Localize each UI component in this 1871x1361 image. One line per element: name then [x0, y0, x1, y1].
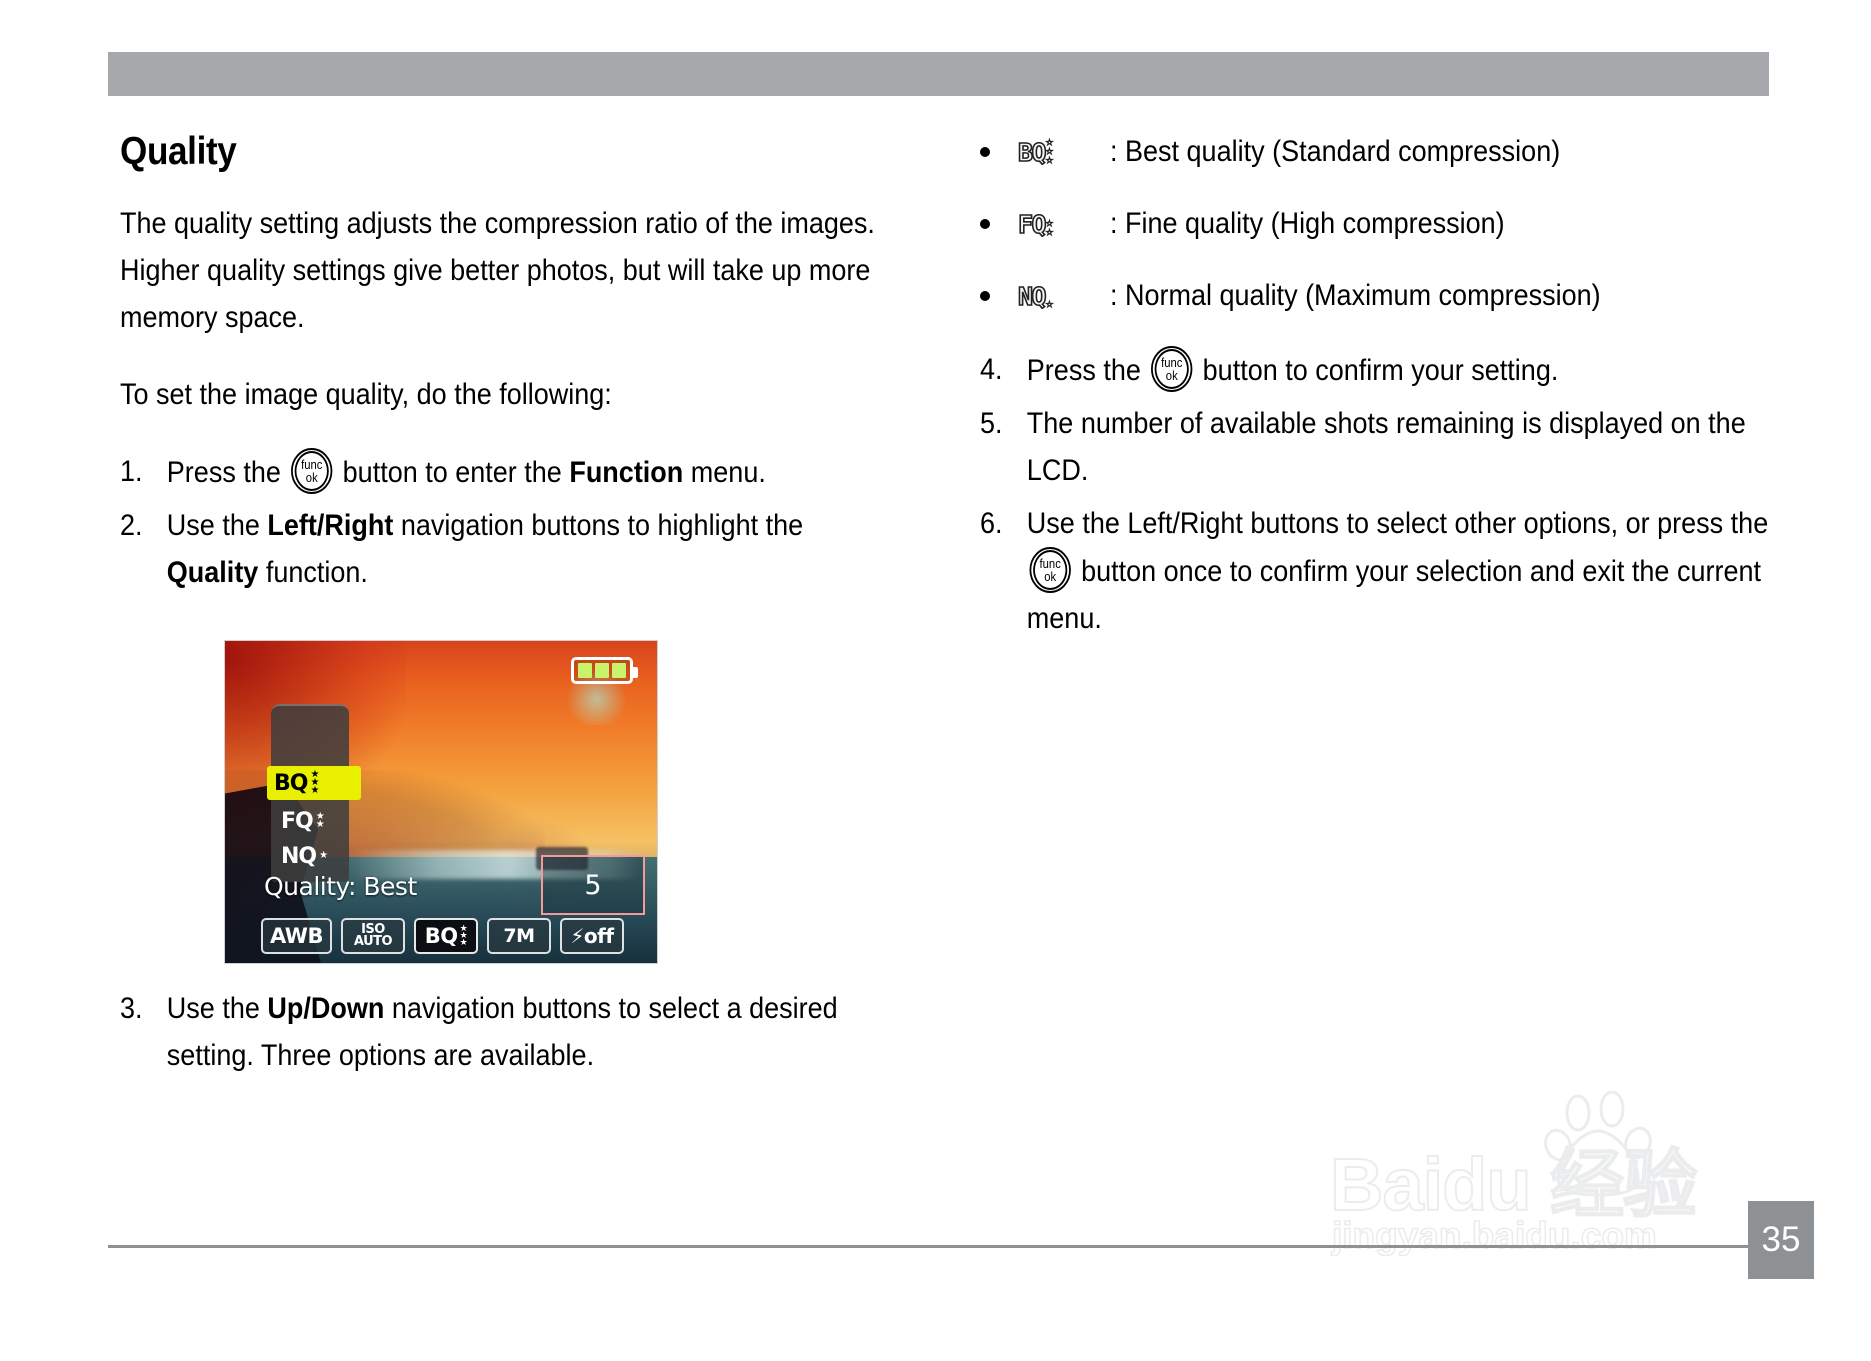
- step-number: 6.: [980, 500, 1027, 642]
- lcd-icon-tray: AWB ISO AUTO BQ★★★ 7M ⚡off: [261, 915, 651, 957]
- right-step-list: 4. Press the funcok button to confirm yo…: [980, 346, 1780, 642]
- quality-option-nq[interactable]: NQ ★: [274, 839, 346, 873]
- left-column-after-figure: 3. Use the Up/Down navigation buttons to…: [120, 985, 890, 1085]
- step-text: Press the funcok button to confirm your …: [1027, 346, 1779, 394]
- fq-icon-label: FQ: [1018, 210, 1045, 239]
- iso-bottom: AUTO: [354, 934, 392, 949]
- func-ok-icon: funcok: [1030, 547, 1071, 593]
- func-label: func: [1030, 558, 1071, 571]
- watermark-title: Baidu 经验: [1330, 1125, 1696, 1232]
- stars-icon: ★★★: [310, 771, 319, 795]
- step-number: 3.: [120, 985, 167, 1079]
- list-item: BQ★★★ : Best quality (Standard compressi…: [980, 130, 1780, 174]
- image-size-icon[interactable]: 7M: [487, 918, 551, 954]
- stars-icon: ★: [319, 852, 328, 860]
- battery-icon: [571, 657, 633, 684]
- shots-remaining-box: 5: [541, 855, 645, 915]
- quality-icon[interactable]: BQ★★★: [414, 918, 478, 954]
- left-step-list: 1. Press the funcok button to enter the …: [120, 448, 890, 596]
- stars-icon: ★★: [316, 813, 325, 829]
- quality-option-fq[interactable]: FQ ★★: [274, 804, 346, 838]
- right-column: BQ★★★ : Best quality (Standard compressi…: [980, 130, 1780, 648]
- flash-icon[interactable]: ⚡off: [560, 918, 624, 954]
- func-label: func: [291, 459, 332, 472]
- func-ok-icon: funcok: [1151, 346, 1192, 392]
- iso-icon[interactable]: ISO AUTO: [341, 918, 405, 954]
- bullet-dot: [980, 147, 990, 157]
- quality-option-label: BQ: [274, 771, 307, 796]
- intro-paragraph: The quality setting adjusts the compress…: [120, 200, 889, 341]
- iso-labels: ISO AUTO: [354, 924, 392, 948]
- step-text: Use the Left/Right navigation buttons to…: [167, 502, 889, 596]
- quality-menu-overlay[interactable]: BQ ★★★ FQ ★★ NQ ★: [271, 704, 349, 882]
- instructions-lead: To set the image quality, do the followi…: [120, 371, 889, 418]
- func-label: func: [1151, 357, 1192, 370]
- bullet-text: : Normal quality (Maximum compression): [1110, 274, 1713, 318]
- page-number: 35: [1748, 1201, 1814, 1279]
- step-text: Press the funcok button to enter the Fun…: [167, 448, 889, 496]
- list-item: 3. Use the Up/Down navigation buttons to…: [120, 985, 889, 1079]
- list-item: 4. Press the funcok button to confirm yo…: [980, 346, 1779, 394]
- quality-option-label: FQ: [281, 809, 313, 834]
- list-item: FQ★★ : Fine quality (High compression): [980, 202, 1780, 246]
- page-title: Quality: [120, 130, 813, 174]
- nq-quality-icon: NQ★: [1018, 274, 1110, 318]
- list-item: NQ★ : Normal quality (Maximum compressio…: [980, 274, 1780, 318]
- step-text: Use the Up/Down navigation buttons to se…: [167, 985, 889, 1079]
- fq-quality-icon: FQ★★: [1018, 202, 1110, 246]
- step-number: 2.: [120, 502, 167, 596]
- step-number: 1.: [120, 448, 167, 496]
- stars-icon: ★★★: [1046, 137, 1051, 164]
- list-item: 2. Use the Left/Right navigation buttons…: [120, 502, 889, 596]
- baidu-watermark: Baidu 经验 jingyan.baidu.com: [1330, 1095, 1790, 1270]
- left-column: Quality The quality setting adjusts the …: [120, 130, 890, 602]
- quality-icon-label: BQ: [425, 924, 458, 948]
- stars-icon: ★★: [1046, 218, 1051, 236]
- manual-page: Quality The quality setting adjusts the …: [0, 0, 1871, 1361]
- step-number: 4.: [980, 346, 1027, 394]
- quality-option-label: NQ: [281, 844, 316, 869]
- ok-label: ok: [1151, 370, 1192, 383]
- ok-label: ok: [1030, 571, 1071, 584]
- step-number: 5.: [980, 400, 1027, 494]
- step-text: Use the Left/Right buttons to select oth…: [1027, 500, 1779, 642]
- bullet-dot: [980, 291, 990, 301]
- flash-glyph: ⚡: [570, 924, 584, 948]
- flash-label: off: [584, 924, 614, 948]
- camera-lcd-screenshot: BQ ★★★ FQ ★★ NQ ★ Quality: Best 5 AWB IS…: [225, 641, 657, 963]
- footer-divider: [108, 1245, 1769, 1248]
- list-item: 6. Use the Left/Right buttons to select …: [980, 500, 1779, 642]
- list-item: 1. Press the funcok button to enter the …: [120, 448, 889, 496]
- lcd-status-text: Quality: Best: [264, 872, 417, 901]
- stars-icon: ★: [1046, 299, 1051, 308]
- stars-icon: ★★★: [460, 926, 468, 947]
- header-band: [108, 52, 1769, 96]
- bq-quality-icon: BQ★★★: [1018, 130, 1110, 174]
- list-item: 5. The number of available shots remaini…: [980, 400, 1779, 494]
- func-ok-icon: funcok: [291, 448, 332, 494]
- baidu-paw-icon: [1542, 1091, 1662, 1201]
- step-text: The number of available shots remaining …: [1027, 400, 1779, 494]
- bullet-text: : Fine quality (High compression): [1110, 202, 1713, 246]
- bq-icon-label: BQ: [1018, 138, 1045, 167]
- nq-icon-label: NQ: [1018, 282, 1045, 311]
- white-balance-icon[interactable]: AWB: [261, 918, 332, 954]
- image-size-label: 7M: [503, 925, 534, 947]
- bullet-dot: [980, 219, 990, 229]
- bullet-text: : Best quality (Standard compression): [1110, 130, 1713, 174]
- quality-option-bq[interactable]: BQ ★★★: [267, 766, 361, 800]
- ok-label: ok: [291, 472, 332, 485]
- quality-options-bullets: BQ★★★ : Best quality (Standard compressi…: [980, 130, 1780, 318]
- watermark-url: jingyan.baidu.com: [1332, 1215, 1657, 1257]
